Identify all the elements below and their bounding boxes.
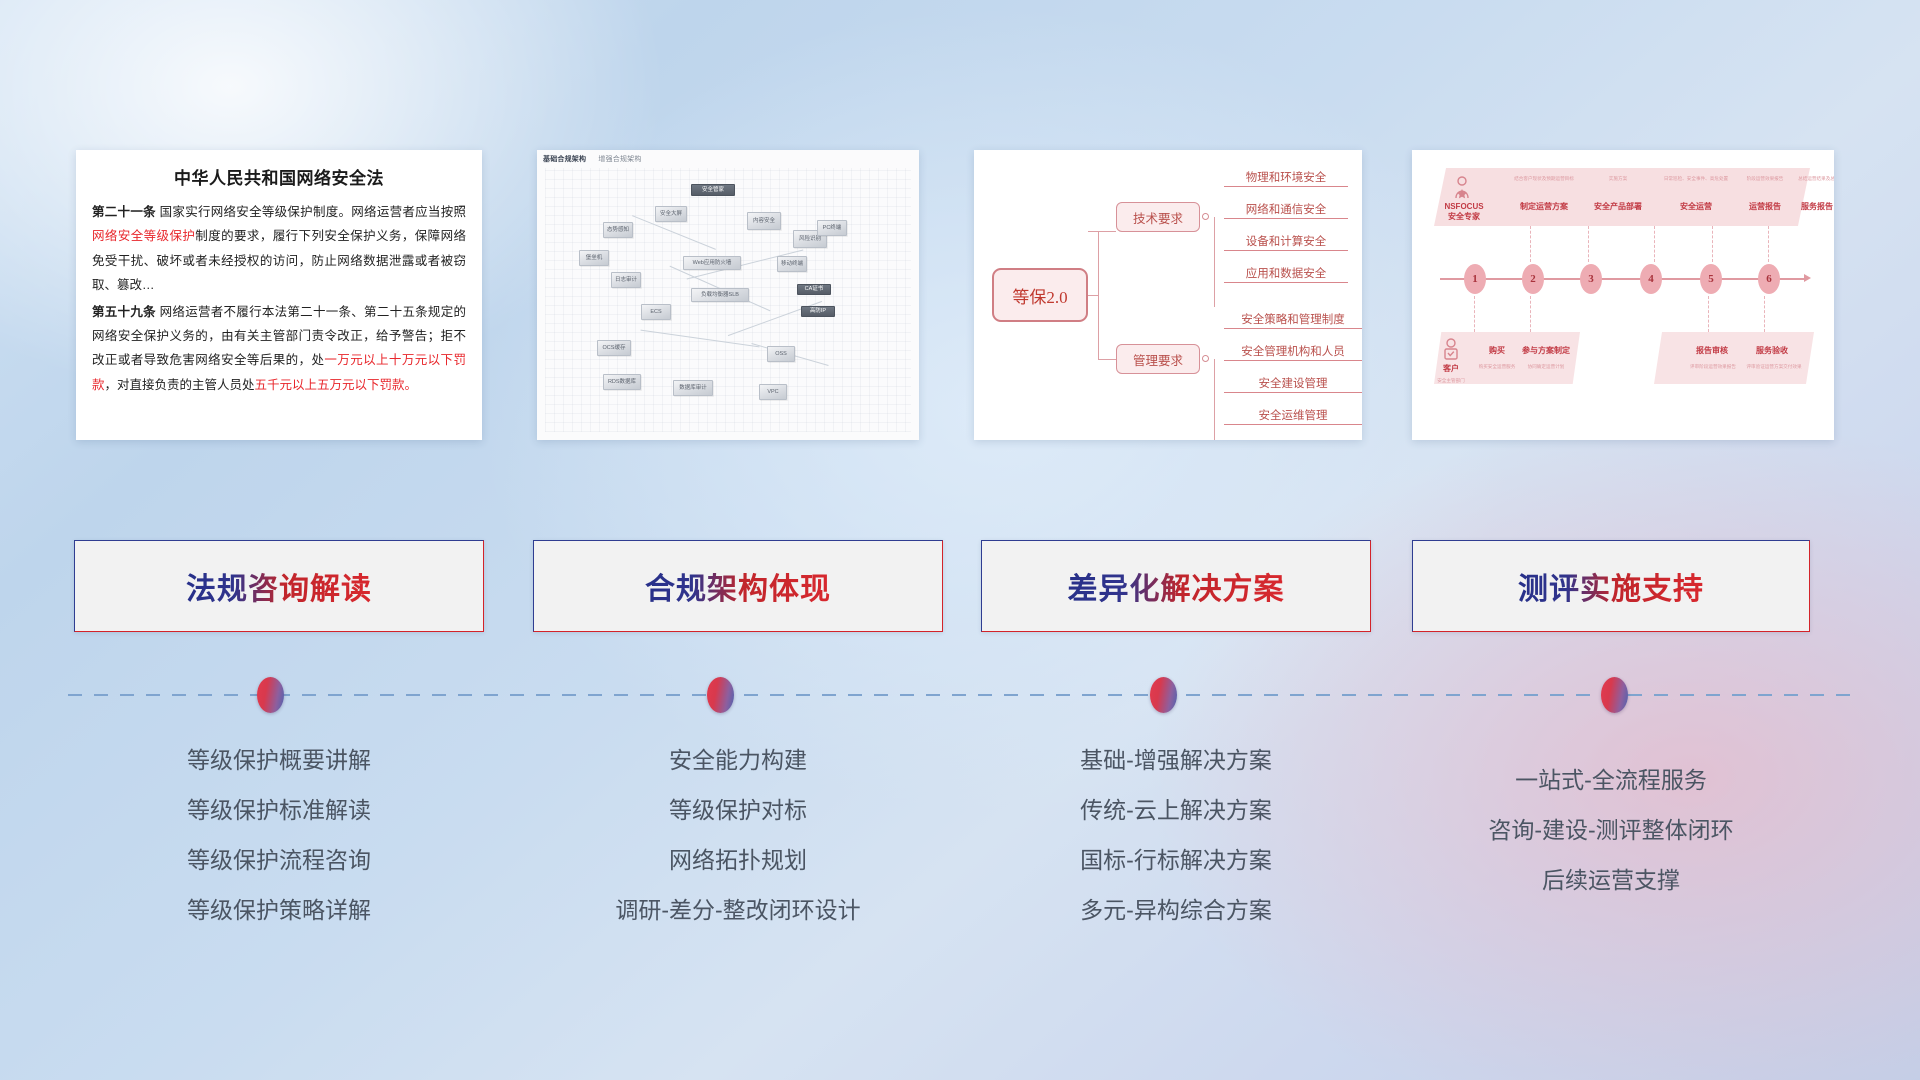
nsfocus-step-number-6: 6 [1758,264,1780,294]
mindmap-expand-dot-icon[interactable] [1202,213,1209,220]
architecture-node-pc-terminal: PC终端 [817,220,847,236]
architecture-node-rds-database: RDS数据库 [603,374,641,390]
architecture-node-anti-ddos-ip: 高防IP [801,306,835,317]
architecture-node-content-security: 内容安全 [747,212,781,230]
nsfocus-dash-connector [1764,296,1765,332]
feature-list-differentiated-solution: 基础-增强解决方案 传统-云上解决方案 国标-行标解决方案 多元-异构综合方案 [981,735,1371,935]
title-box-compliance-architecture[interactable]: 合规架构体现 [533,540,943,632]
mindmap-leaf-device-compute: 设备和计算安全 [1224,226,1348,251]
list-item: 等级保护流程咨询 [74,835,484,885]
nsfocus-step-number-2: 2 [1522,264,1544,294]
mindmap-leaf-construction-mgmt: 安全建设管理 [1224,368,1362,393]
mindmap-connector [1088,295,1098,296]
mindmap: 等保2.0 技术要求 管理要求 物理和环境安全 网络和通信安全 设备和计算安全 … [974,150,1362,440]
card-nsfocus-service-timeline[interactable]: NSFOCUS 安全专家 结合客户现状及预期运营目标 制定运营方案 实施方案 安… [1412,150,1834,440]
nsfocus-step-number-4: 4 [1640,264,1662,294]
nsfocus-dash-connector [1530,226,1531,262]
mindmap-leaf-physical-env: 物理和环境安全 [1224,162,1348,187]
list-item: 网络拓扑规划 [533,835,943,885]
law-document: 中华人民共和国网络安全法 第二十一条 国家实行网络安全等级保护制度。网络运营者应… [76,150,482,397]
mindmap-leaf-network-comm: 网络和通信安全 [1224,194,1348,219]
nsfocus-bottom-step-4: 服务验收 [1742,346,1802,356]
nsfocus-expert-line1: NSFOCUS [1444,202,1483,211]
architecture-node-ecs: ECS [641,304,671,320]
mindmap-root-node: 等保2.0 [992,268,1088,322]
architecture-tab-enhanced[interactable]: 增强合规架构 [598,156,641,163]
mindmap-connector [1098,231,1099,359]
architecture-diagram: 基础合规架构 增强合规架构 安全管家 安全大屏 态势感知 堡垒机 日志审计 内容… [537,150,919,440]
timeline-dot-4[interactable] [1601,677,1628,713]
nsfocus-top-step-5: 服务报告 [1774,202,1834,212]
list-item: 等级保护标准解读 [74,785,484,835]
nsfocus-dash-connector [1712,226,1713,262]
list-item: 后续运营支撑 [1412,855,1810,905]
law-run: 国家实行网络安全等级保护制度。网络运营者应当按照 [156,205,466,219]
mindmap-branch-technical: 技术要求 [1116,202,1200,232]
title-label: 测评实施支持 [1518,564,1704,608]
architecture-node-load-balancer: 负载均衡器SLB [691,288,749,302]
title-label: 法规咨询解读 [186,564,372,608]
list-item: 国标-行标解决方案 [981,835,1371,885]
feature-list-regulation-consulting: 等级保护概要讲解 等级保护标准解读 等级保护流程咨询 等级保护策略详解 [74,735,484,935]
feature-list-compliance-architecture: 安全能力构建 等级保护对标 网络拓扑规划 调研-差分-整改闭环设计 [533,735,943,935]
law-paragraph-21: 第二十一条 国家实行网络安全等级保护制度。网络运营者应当按照网络安全等级保护制度… [92,200,466,298]
list-item: 咨询-建设-测评整体闭环 [1412,805,1810,855]
title-label: 差异化解决方案 [1068,564,1285,608]
law-run-highlight: 网络安全等级保护 [92,229,195,243]
architecture-node-situational-awareness: 态势感知 [603,222,633,238]
law-article-label-21: 第二十一条 [92,205,156,219]
nsfocus-customer-line1: 客户 [1443,364,1459,373]
architecture-node-mobile-terminal: 移动终端 [777,256,807,272]
law-run-highlight: 五千元以上五万元以下罚款。 [255,378,418,392]
architecture-node-security-screen: 安全大屏 [655,206,687,222]
list-item: 调研-差分-整改闭环设计 [533,885,943,935]
nsfocus-bottom-band-right [1654,332,1814,384]
law-article-label-59: 第五十九条 [92,305,156,319]
architecture-node-log-audit: 日志审计 [611,272,641,288]
architecture-node-database-audit: 数据库审计 [673,380,713,396]
nsfocus-step-number-1: 1 [1464,264,1486,294]
nsfocus-bottom-step-2: 参与方案制定 [1508,346,1584,356]
nsfocus-dash-connector [1654,226,1655,262]
list-item: 多元-异构综合方案 [981,885,1371,935]
preview-cards-row: 中华人民共和国网络安全法 第二十一条 国家实行网络安全等级保护制度。网络运营者应… [0,0,1920,460]
card-mindmap-dengbao[interactable]: 等保2.0 技术要求 管理要求 物理和环境安全 网络和通信安全 设备和计算安全 … [974,150,1362,440]
nsfocus-expert-line2: 安全专家 [1448,212,1480,221]
customer-person-icon [1442,338,1460,362]
architecture-node-security-steward: 安全管家 [691,184,735,196]
nsfocus-bottom-sub-2: 协同确定运营计划 [1508,364,1584,370]
list-item: 等级保护策略详解 [74,885,484,935]
nsfocus-dash-connector [1474,296,1475,332]
mindmap-leaf-org-personnel: 安全管理机构和人员 [1224,336,1362,361]
architecture-node-ca-certificate: CA证书 [797,284,831,295]
list-item: 传统-云上解决方案 [981,785,1371,835]
list-item: 基础-增强解决方案 [981,735,1371,785]
nsfocus-dash-connector [1768,226,1769,262]
nsfocus-customer-sub: 安全主管部门 [1426,378,1476,384]
nsfocus-dash-connector [1530,296,1531,332]
timeline-dot-2[interactable] [707,677,734,713]
law-title: 中华人民共和国网络安全法 [92,164,466,189]
architecture-canvas: 安全管家 安全大屏 态势感知 堡垒机 日志审计 内容安全 风险识别 PC终端 移… [545,168,911,432]
mindmap-connector [1088,231,1116,232]
feature-list-assessment-support: 一站式-全流程服务 咨询-建设-测评整体闭环 后续运营支撑 [1412,755,1810,905]
list-item: 等级保护概要讲解 [74,735,484,785]
mindmap-connector [1214,359,1215,440]
card-cybersecurity-law[interactable]: 中华人民共和国网络安全法 第二十一条 国家实行网络安全等级保护制度。网络运营者应… [76,150,482,440]
mindmap-leaf-app-data: 应用和数据安全 [1224,258,1348,283]
architecture-link [641,330,760,348]
feature-lists-row: 等级保护概要讲解 等级保护标准解读 等级保护流程咨询 等级保护策略详解 安全能力… [0,735,1920,985]
nsfocus-dash-connector [1708,296,1709,332]
architecture-node-vpc: VPC [759,384,787,400]
nsfocus-step-number-3: 3 [1580,264,1602,294]
architecture-tab-basic[interactable]: 基础合规架构 [543,156,586,163]
list-item: 等级保护对标 [533,785,943,835]
mindmap-leaf-security-policy: 安全策略和管理制度 [1224,304,1362,329]
expert-person-icon [1452,176,1472,200]
architecture-node-bastion-host: 堡垒机 [579,250,609,266]
architecture-node-oss: OSS [767,346,795,362]
nsfocus-step-number-5: 5 [1700,264,1722,294]
law-paragraph-59: 第五十九条 网络运营者不履行本法第二十一条、第二十五条规定的网络安全保护义务的，… [92,300,466,398]
section-titles-row: 法规咨询解读 合规架构体现 差异化解决方案 测评实施支持 [0,540,1920,650]
timeline-dot-1[interactable] [257,677,284,713]
nsfocus-dash-connector [1588,226,1589,262]
nsfocus-axis-line [1440,278,1806,280]
mindmap-leaf-operations-mgmt: 安全运维管理 [1224,400,1362,425]
architecture-tabs[interactable]: 基础合规架构 增强合规架构 [543,154,652,164]
list-item: 一站式-全流程服务 [1412,755,1810,805]
title-box-assessment-support[interactable]: 测评实施支持 [1412,540,1810,632]
mindmap-branch-management: 管理要求 [1116,344,1200,374]
mindmap-connector [1214,217,1215,307]
architecture-node-web-application-firewall: Web应用防火墙 [683,256,741,270]
architecture-node-ocs-cache: OCS缓存 [597,340,631,356]
card-compliance-architecture[interactable]: 基础合规架构 增强合规架构 安全管家 安全大屏 态势感知 堡垒机 日志审计 内容… [537,150,919,440]
law-run: ，对直接负责的主管人员处 [105,378,255,392]
timeline-dashed-line [68,694,1850,696]
mindmap-expand-dot-icon[interactable] [1202,355,1209,362]
title-box-differentiated-solution[interactable]: 差异化解决方案 [981,540,1371,632]
title-label: 合规架构体现 [645,564,831,608]
nsfocus-bottom-step-3: 报告审核 [1682,346,1742,356]
nsfocus-top-sub-5: 总结运营结果及总体运营效果 [1768,176,1834,182]
nsfocus-axis-arrow-icon [1804,274,1811,282]
nsfocus-timeline: NSFOCUS 安全专家 结合客户现状及预期运营目标 制定运营方案 实施方案 安… [1412,150,1834,440]
list-item: 安全能力构建 [533,735,943,785]
nsfocus-bottom-sub-4: 评审验证运营方案交付效果 [1732,364,1816,370]
mindmap-connector [1098,359,1116,360]
timeline-dot-3[interactable] [1150,677,1177,713]
title-box-regulation-consulting[interactable]: 法规咨询解读 [74,540,484,632]
nsfocus-expert-label: NSFOCUS 安全专家 [1436,202,1492,222]
